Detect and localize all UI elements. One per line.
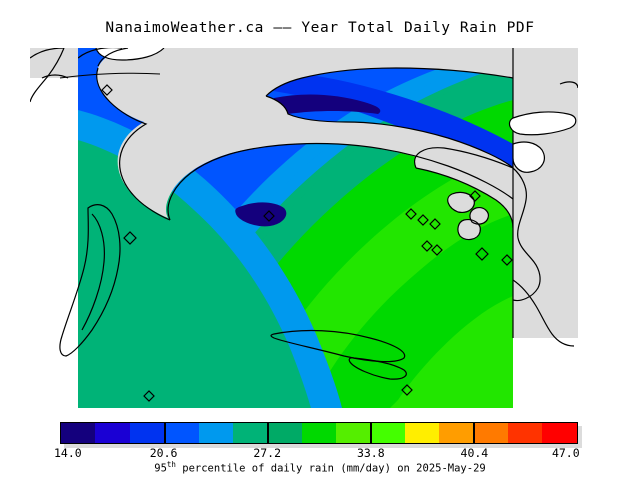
colorbar-segment [199, 423, 233, 443]
colorbar-tick-label: 27.2 [253, 446, 281, 460]
land-edge-northeast [30, 48, 578, 408]
colorbar-axis-label: 95th percentile of daily rain (mm/day) o… [30, 460, 610, 475]
colorbar-segment [474, 423, 508, 443]
colorbar-segment [371, 423, 405, 443]
colorbar-segment [233, 423, 267, 443]
colorbar-segment [302, 423, 336, 443]
colorbar-segment [95, 423, 129, 443]
colorbar-container: 14.020.627.233.840.447.0 95th percentile… [30, 420, 610, 480]
colorbar-tick-label: 40.4 [461, 446, 489, 460]
colorbar-tick-labels: 14.020.627.233.840.447.0 [30, 446, 610, 460]
colorbar-segment [508, 423, 542, 443]
colorbar-segment [130, 423, 164, 443]
colorbar-label-superscript: th [167, 460, 176, 469]
colorbar-segment [164, 423, 198, 443]
colorbar-tick-mark [473, 423, 475, 443]
colorbar-tick-label: 47.0 [552, 446, 580, 460]
colorbar-segment [542, 423, 576, 443]
colorbar-segment [439, 423, 473, 443]
colorbar-segment [405, 423, 439, 443]
colorbar-tick-mark [267, 423, 269, 443]
page-title: NanaimoWeather.ca —— Year Total Daily Ra… [0, 20, 640, 36]
colorbar-tick-mark [370, 423, 372, 443]
colorbar-label-suffix: percentile of daily rain (mm/day) on 202… [176, 463, 486, 475]
colorbar-segment [267, 423, 301, 443]
colorbar-label-prefix: 95 [154, 463, 167, 475]
colorbar-tick-label: 20.6 [150, 446, 178, 460]
map-frame [30, 48, 578, 408]
colorbar-segment [61, 423, 95, 443]
colorbar-tick-label: 14.0 [54, 446, 82, 460]
colorbar-tick-mark [164, 423, 166, 443]
colorbar [60, 422, 578, 444]
colorbar-segment [336, 423, 370, 443]
colorbar-tick-label: 33.8 [357, 446, 385, 460]
